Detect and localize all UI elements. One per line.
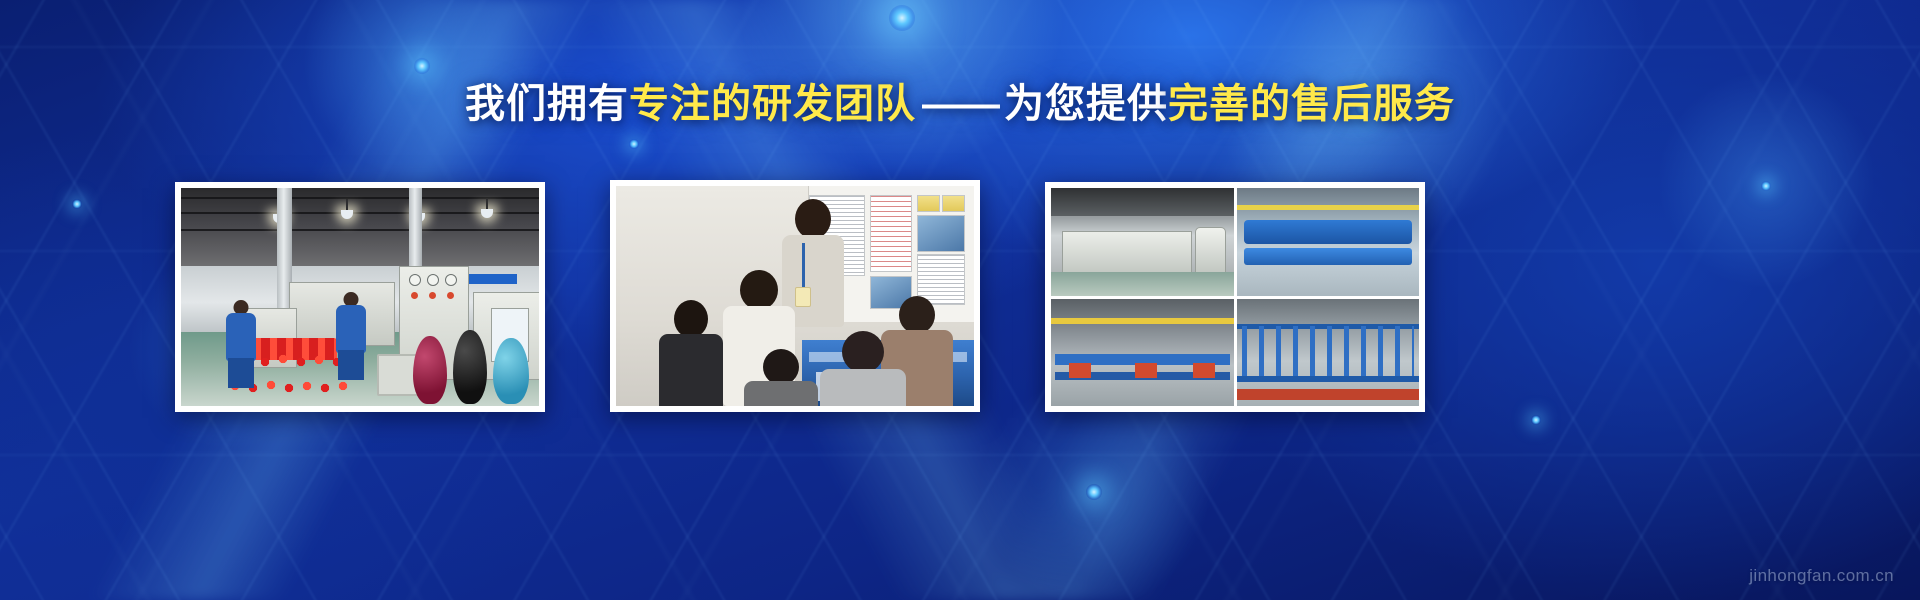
banner-headline: 我们拥有专注的研发团队——为您提供完善的售后服务 [0, 80, 1920, 128]
composite-cell-hanger-line [1237, 299, 1420, 407]
network-node-icon [889, 5, 915, 31]
site-watermark: jinhongfan.com.cn [1749, 566, 1894, 586]
network-node-icon [629, 139, 639, 149]
headline-segment-4: 完善的售后服务 [1168, 82, 1455, 126]
photo-card-team-meeting[interactable] [610, 180, 980, 412]
photo-image-production-line [181, 188, 539, 406]
network-node-icon [1086, 484, 1102, 500]
headline-segment-2: 专注的研发团队 [629, 82, 916, 126]
network-node-icon [72, 199, 82, 209]
composite-cell-duct-tunnel [1237, 188, 1420, 296]
headline-segment-1: 我们拥有 [465, 82, 629, 126]
composite-cell-oven-line [1051, 188, 1234, 296]
network-node-icon [1761, 181, 1771, 191]
network-node-icon [1531, 415, 1541, 425]
composite-cell-conveyor [1051, 299, 1234, 407]
promo-banner: 我们拥有专注的研发团队——为您提供完善的售后服务 [0, 0, 1920, 600]
photo-card-production-line[interactable] [175, 182, 545, 412]
headline-dash: —— [916, 82, 1004, 126]
photo-image-factory-composite [1051, 188, 1419, 406]
photo-image-team-meeting [616, 186, 974, 406]
headline-segment-3: 为您提供 [1004, 82, 1168, 126]
network-node-icon [414, 58, 430, 74]
photo-card-factory-composite[interactable] [1045, 182, 1425, 412]
